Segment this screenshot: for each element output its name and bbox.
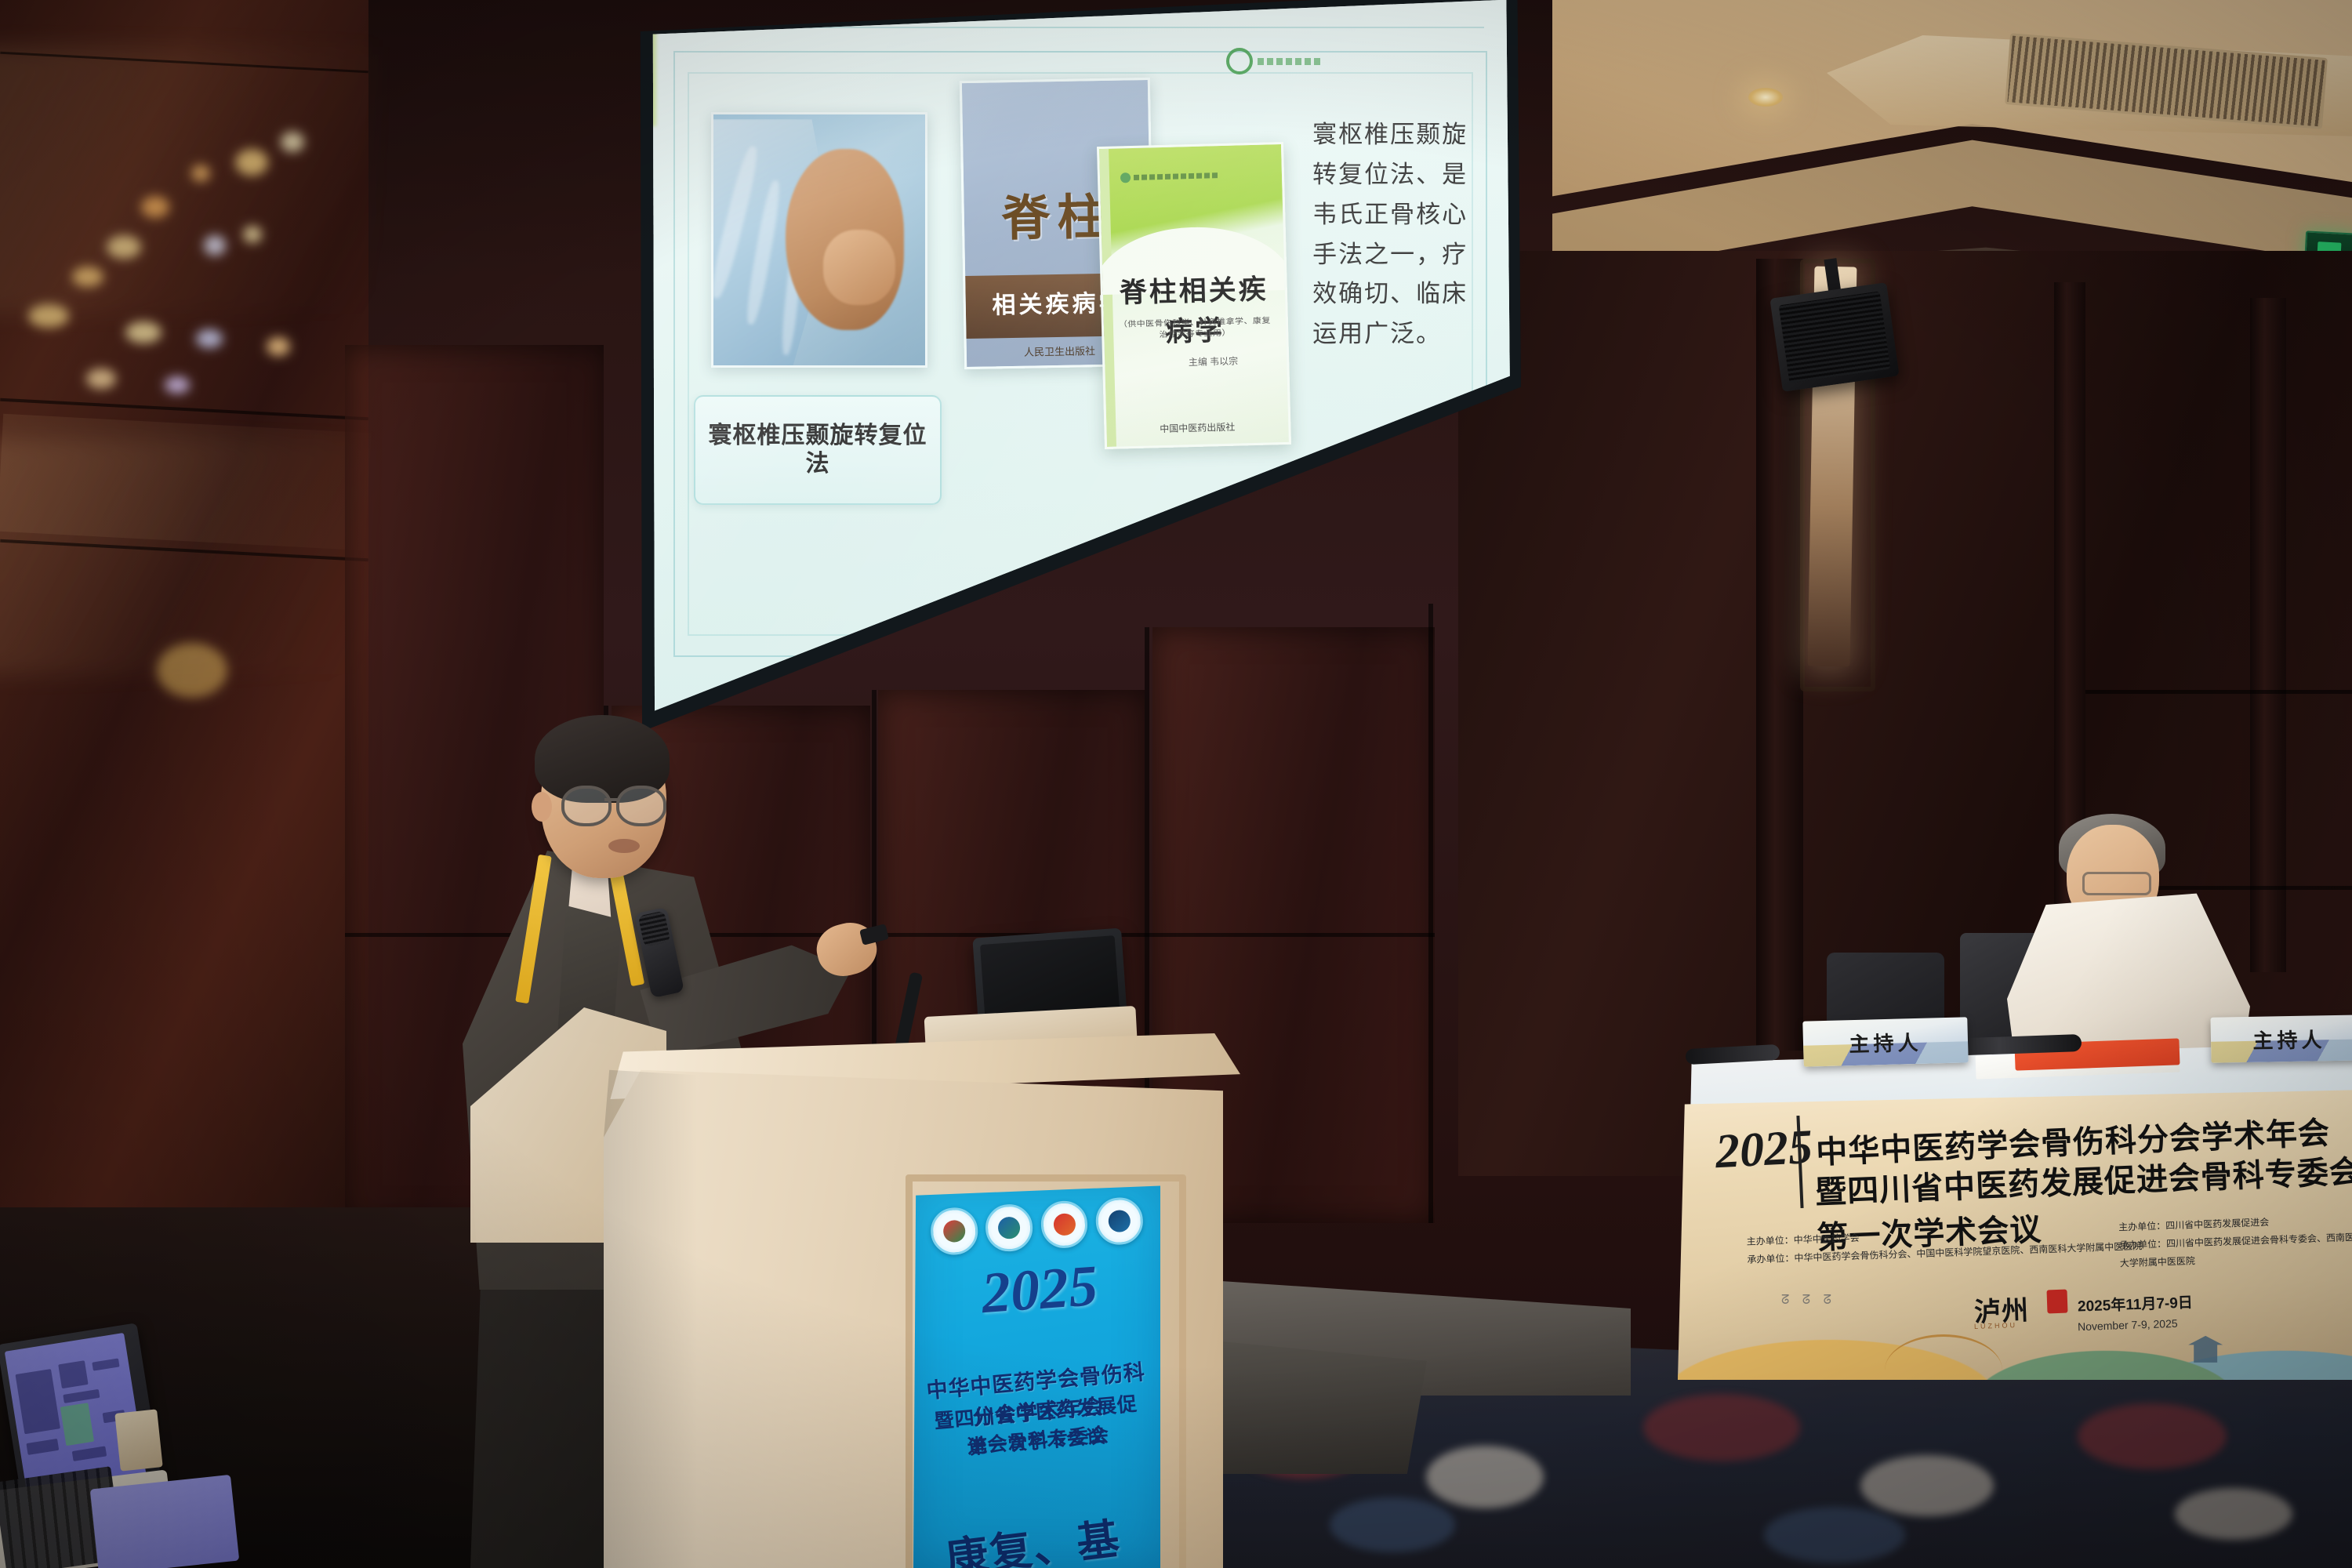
podium-banner-year: 2025	[971, 1252, 1109, 1328]
book-cover-green: 脊柱相关疾病学 （供中医骨伤科学、针灸推拿学、康复治疗学等专业用） 主编 韦以宗…	[1097, 142, 1291, 449]
podium-shading	[604, 1054, 698, 1568]
downlight	[1748, 88, 1783, 107]
wall-speaker	[1769, 282, 1899, 392]
photo-hand	[823, 230, 895, 305]
left-glossy-wood-wall	[0, 0, 368, 1223]
foreground-tablet	[90, 1475, 240, 1568]
table-banner-org-left: 主办单位：中华中医药学会 承办单位：中华中医药学会骨伤科分会、中国中医科学院望京…	[1746, 1219, 2142, 1269]
technique-photo	[711, 112, 927, 368]
city-seal-icon	[2046, 1290, 2067, 1314]
org-logo-icon	[929, 1207, 978, 1256]
book-green-subtitle: （供中医骨伤科学、针灸推拿学、康复治疗学等专业用）	[1118, 314, 1271, 341]
table-banner-date-cn: 2025年11月7-9日	[2078, 1290, 2194, 1316]
publisher-logo	[1226, 44, 1374, 80]
nameplate-host-2: 主持人	[2211, 1014, 2352, 1062]
speaker-glasses-left	[561, 786, 612, 826]
logo-wordmark	[1258, 58, 1323, 65]
logo-ring-icon	[1226, 48, 1253, 74]
table-banner-org-right: 主办单位：四川省中医药发展促进会 承办单位：四川省中医药发展促进会骨科专委会、西…	[2118, 1210, 2352, 1272]
banner-birds-icon: ᘔ ᘔ ᘔ	[1781, 1294, 1836, 1308]
podium-banner: 2025 中华中医药学会骨伤科分会学术年会 暨四川省中医药发展促进会骨科专委会 …	[913, 1184, 1160, 1568]
org-logo-icon	[985, 1203, 1034, 1252]
wall-pillar	[2250, 298, 2286, 972]
head-table-banner: ᘔ ᘔ ᘔ 2025 中华中医药学会骨伤科分会学术年会 暨四川省中医药发展促进会…	[1678, 1090, 2352, 1380]
nameplate-label: 主持人	[1849, 1026, 1922, 1057]
nameplate-label: 主持人	[2252, 1024, 2326, 1054]
speaker-ear	[532, 792, 552, 822]
foreground-cup	[114, 1409, 162, 1471]
podium-banner-session: 康复、基础、分场	[913, 1501, 1160, 1568]
speaker-glasses-right	[616, 786, 666, 826]
book-green-editor: 主编 韦以宗	[1188, 353, 1276, 368]
screen-green-block	[60, 1403, 94, 1446]
speaker-glasses-bridge	[604, 798, 619, 801]
table-banner-city-pinyin: LUZHOU	[1974, 1321, 2017, 1330]
book-green-logo	[1120, 168, 1229, 180]
podium-banner-logos	[929, 1195, 1144, 1258]
speaker-mouth	[608, 839, 640, 853]
book-green-publisher: 中国中医药出版社	[1120, 419, 1273, 436]
seated-person-glasses	[2082, 872, 2151, 895]
org-logo-icon	[1094, 1196, 1144, 1246]
slide-caption-box: 寰枢椎压颞旋转复位法	[694, 395, 942, 505]
slide-caption-text: 寰枢椎压颞旋转复位法	[703, 422, 933, 479]
org-logo-icon	[1040, 1200, 1089, 1249]
nameplate-host-1: 主持人	[1802, 1017, 1968, 1066]
screenshot-root: 脊柱 相关疾病学 人民卫生出版社 脊柱相关疾病学 （供中医骨伤科学、针灸推拿学、…	[0, 0, 2352, 1568]
